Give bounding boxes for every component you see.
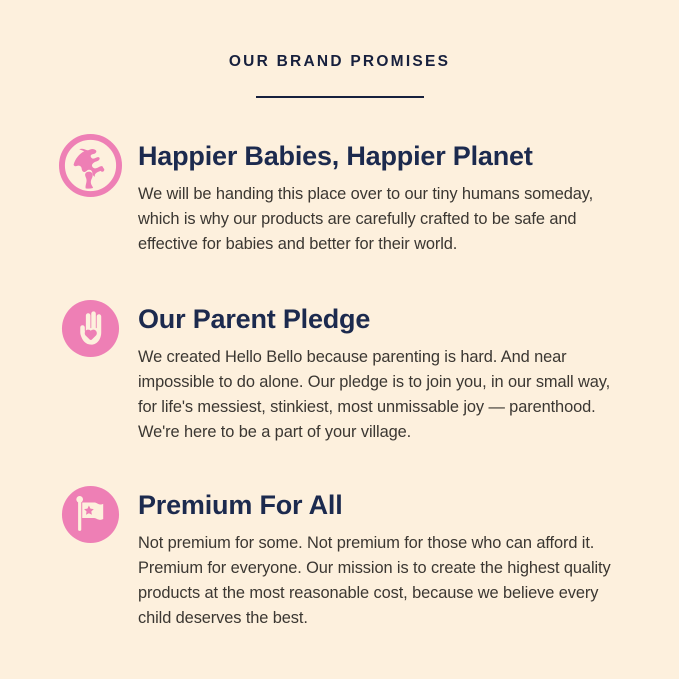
promise-heading: Our Parent Pledge [138, 295, 645, 335]
promise-list: Happier Babies, Happier Planet We will b… [0, 132, 679, 630]
hand-heart-icon [59, 297, 122, 360]
promise-text: We will be handing this place over to ou… [138, 182, 598, 257]
promise-body: Premium For All Not premium for some. No… [138, 481, 645, 631]
page-header: OUR BRAND PROMISES [0, 0, 679, 98]
flag-star-icon [59, 483, 122, 546]
brand-promises-page: OUR BRAND PROMISES [0, 0, 679, 679]
globe-icon [59, 134, 122, 197]
promise-text: Not premium for some. Not premium for th… [138, 531, 624, 631]
page-title: OUR BRAND PROMISES [0, 53, 679, 70]
promise-body: Our Parent Pledge We created Hello Bello… [138, 295, 645, 445]
title-divider [256, 96, 424, 98]
promise-item: Premium For All Not premium for some. No… [59, 481, 645, 631]
promise-heading: Happier Babies, Happier Planet [138, 132, 645, 172]
promise-body: Happier Babies, Happier Planet We will b… [138, 132, 645, 257]
promise-item: Happier Babies, Happier Planet We will b… [59, 132, 645, 257]
promise-item: Our Parent Pledge We created Hello Bello… [59, 295, 645, 445]
promise-text: We created Hello Bello because parenting… [138, 345, 620, 445]
promise-heading: Premium For All [138, 481, 645, 521]
